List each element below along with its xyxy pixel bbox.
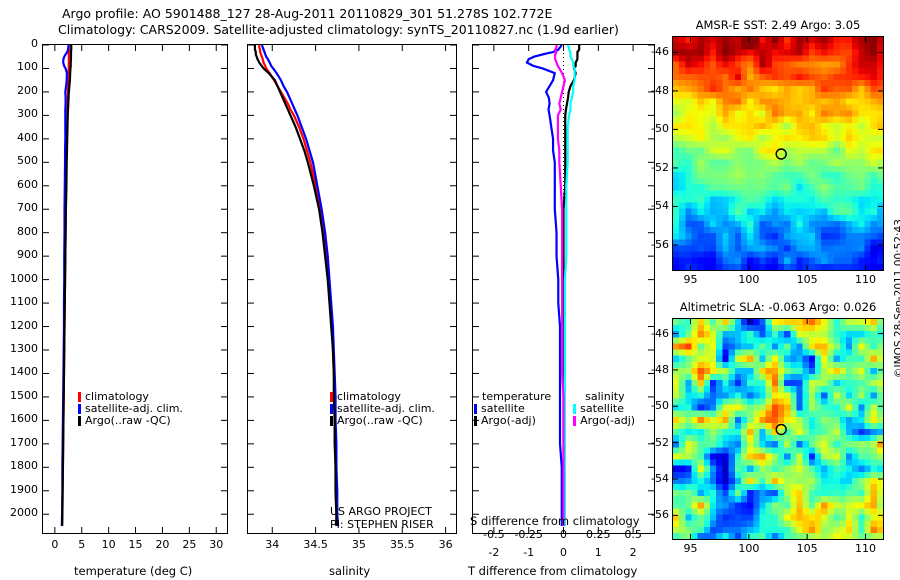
axis-tick-label: 105 <box>797 542 818 555</box>
axis-tick-label: -48 <box>651 84 669 97</box>
axis-tick-label: 300 <box>17 107 38 120</box>
axis-tick-label: 500 <box>17 154 38 167</box>
axis-tick-label: 1800 <box>10 459 38 472</box>
axis-tick-label: 100 <box>738 542 759 555</box>
axis-tick-label: -50 <box>651 122 669 135</box>
legend-item: Argo(-adj) <box>573 415 635 427</box>
legend-swatch-argo-raw <box>78 416 81 426</box>
legend-label: Argo(-adj) <box>481 415 536 427</box>
salinity-legend: climatology satellite-adj. clim. Argo(..… <box>330 391 435 427</box>
axis-tick-label: 15 <box>129 538 143 551</box>
axis-tick-label: 1100 <box>10 295 38 308</box>
axis-tick-label: -56 <box>651 238 669 251</box>
temperature-difference-axis-label: T difference from climatology <box>468 564 637 578</box>
axis-tick-label: 0.5 <box>624 528 642 541</box>
axis-tick-label: 1600 <box>10 412 38 425</box>
legend-swatch-temperature-satellite <box>474 404 477 414</box>
axis-tick-label: -50 <box>651 399 669 412</box>
legend-label: Argo(-adj) <box>580 415 635 427</box>
axis-tick-label: -46 <box>651 327 669 340</box>
axis-tick-label: 2 <box>630 546 637 559</box>
axis-tick-label: 200 <box>17 84 38 97</box>
salinity-panel <box>247 44 457 534</box>
difference-legend: temperature satellite Argo(-adj) salinit… <box>474 391 635 427</box>
axis-tick-label: -48 <box>651 363 669 376</box>
axis-tick-label: 0 <box>31 37 38 50</box>
legend-item: Argo(..raw -QC) <box>330 415 435 427</box>
sla-map <box>672 318 884 540</box>
axis-tick-label: 35.5 <box>390 538 415 551</box>
legend-column-salinity: salinity satellite Argo(-adj) <box>573 391 635 427</box>
legend-swatch-climatology <box>330 392 333 402</box>
axis-tick-label: 95 <box>684 273 698 286</box>
axis-tick-label: -0.25 <box>514 528 542 541</box>
legend-swatch-satellite-adj <box>330 404 333 414</box>
axis-tick-label: -2 <box>488 546 499 559</box>
legend-item: Argo(-adj) <box>474 415 551 427</box>
axis-tick-label: 110 <box>855 542 876 555</box>
temperature-legend: climatology satellite-adj. clim. Argo(..… <box>78 391 183 427</box>
axis-tick-label: 20 <box>155 538 169 551</box>
axis-tick-label: -54 <box>651 199 669 212</box>
axis-tick-label: 95 <box>684 542 698 555</box>
axis-tick-label: 1900 <box>10 483 38 496</box>
sst-map-title: AMSR-E SST: 2.49 Argo: 3.05 <box>672 18 884 32</box>
salinity-axis-label: salinity <box>329 564 370 578</box>
sla-map-image <box>673 319 883 539</box>
axis-tick-label: 5 <box>78 538 85 551</box>
axis-tick-label: -0.5 <box>483 528 504 541</box>
axis-tick-label: 35 <box>352 538 366 551</box>
axis-tick-label: -52 <box>651 161 669 174</box>
difference-panel <box>472 44 655 534</box>
axis-tick-label: 0 <box>51 538 58 551</box>
legend-label: Argo(..raw -QC) <box>337 415 423 427</box>
legend-swatch-temperature-argo <box>474 416 477 426</box>
axis-tick-label: 34.5 <box>303 538 328 551</box>
axis-tick-label: 100 <box>17 60 38 73</box>
axis-tick-label: 1500 <box>10 389 38 402</box>
axis-tick-label: 1400 <box>10 365 38 378</box>
axis-tick-label: 0 <box>560 528 567 541</box>
axis-tick-label: 25 <box>182 538 196 551</box>
axis-tick-label: -52 <box>651 436 669 449</box>
axis-tick-label: 2000 <box>10 506 38 519</box>
legend-swatch-salinity-argo <box>573 416 576 426</box>
temperature-panel <box>42 44 228 534</box>
project-note-line2: PI: STEPHEN RISER <box>330 518 434 531</box>
salinity-plot-area <box>248 45 456 533</box>
axis-tick-label: -54 <box>651 472 669 485</box>
axis-tick-label: 105 <box>797 273 818 286</box>
sla-map-title: Altimetric SLA: -0.063 Argo: 0.026 <box>672 300 884 314</box>
axis-tick-label: 1 <box>595 546 602 559</box>
axis-tick-label: 1200 <box>10 319 38 332</box>
axis-tick-label: 100 <box>738 273 759 286</box>
axis-tick-label: -1 <box>523 546 534 559</box>
credit-text: ©IMOS 28-Sep-2011 00:52:43 <box>893 219 900 378</box>
page-title-line1: Argo profile: AO 5901488_127 28-Aug-2011… <box>62 6 552 21</box>
temperature-plot-area <box>43 45 227 533</box>
axis-tick-label: 1000 <box>10 272 38 285</box>
axis-tick-label: 0 <box>560 546 567 559</box>
difference-plot-area <box>473 45 654 533</box>
legend-swatch-satellite-adj <box>78 404 81 414</box>
axis-tick-label: 400 <box>17 131 38 144</box>
project-note-line1: US ARGO PROJECT <box>330 505 432 518</box>
axis-tick-label: 1700 <box>10 436 38 449</box>
legend-swatch-argo-raw <box>330 416 333 426</box>
axis-tick-label: 600 <box>17 178 38 191</box>
page-title-line2: Climatology: CARS2009. Satellite-adjuste… <box>58 22 619 37</box>
axis-tick-label: 0.25 <box>586 528 611 541</box>
axis-tick-label: -46 <box>651 45 669 58</box>
legend-column-temperature: temperature satellite Argo(-adj) <box>474 391 551 427</box>
legend-item: Argo(..raw -QC) <box>78 415 183 427</box>
axis-tick-label: 30 <box>209 538 223 551</box>
axis-tick-label: 1300 <box>10 342 38 355</box>
axis-tick-label: 800 <box>17 225 38 238</box>
axis-tick-label: -56 <box>651 508 669 521</box>
axis-tick-label: 900 <box>17 248 38 261</box>
axis-tick-label: 34 <box>265 538 279 551</box>
legend-label: Argo(..raw -QC) <box>85 415 171 427</box>
axis-tick-label: 110 <box>855 273 876 286</box>
axis-tick-label: 700 <box>17 201 38 214</box>
sst-map <box>672 36 884 271</box>
axis-tick-label: 10 <box>102 538 116 551</box>
axis-tick-label: 36 <box>439 538 453 551</box>
temperature-axis-label: temperature (deg C) <box>74 564 192 578</box>
salinity-difference-axis-label: S difference from climatology <box>470 514 640 528</box>
legend-swatch-climatology <box>78 392 81 402</box>
legend-swatch-salinity-satellite <box>573 404 576 414</box>
sst-map-image <box>673 37 883 270</box>
